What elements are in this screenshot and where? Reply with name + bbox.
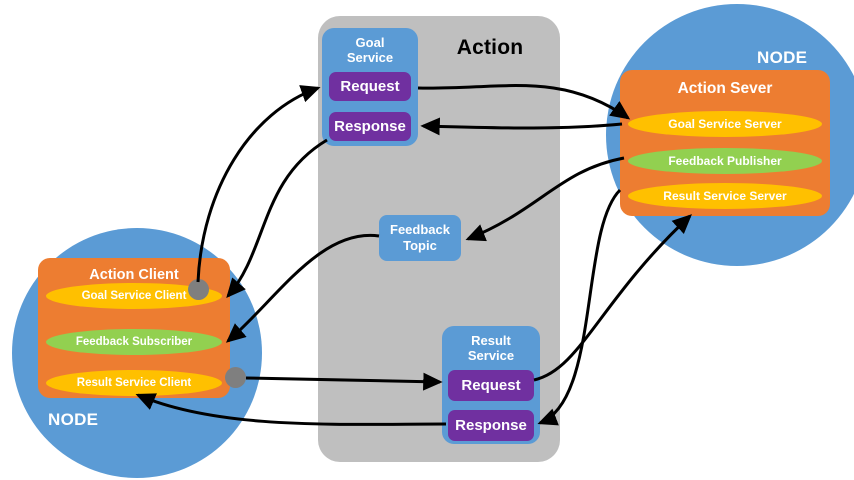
pill-result-service-client: Result Service Client — [46, 370, 222, 396]
arrow-goal-client-to-request — [198, 88, 318, 282]
server-node-label: NODE — [757, 48, 807, 68]
result-service-title: Result Service — [442, 333, 540, 364]
action-server-title: Action Sever — [620, 80, 830, 98]
feedback-topic-title-line1: Feedback — [390, 222, 450, 237]
client-node-label: NODE — [48, 410, 98, 430]
diagram-canvas: Action Action Client Goal Service Client… — [0, 0, 854, 480]
arrow-goal-response-to-client — [228, 140, 327, 296]
result-client-connector-dot — [225, 367, 246, 388]
goal-service-request: Request — [329, 72, 411, 101]
goal-service-response: Response — [329, 112, 411, 141]
result-service-title-line1: Result — [471, 333, 511, 348]
feedback-topic-title: Feedback Topic — [390, 222, 450, 253]
result-service-request: Request — [448, 370, 534, 401]
pill-result-service-server: Result Service Server — [628, 183, 822, 209]
goal-service-title-line2: Service — [347, 50, 393, 65]
feedback-topic-title-line2: Topic — [403, 238, 437, 253]
action-panel-title: Action — [430, 36, 550, 60]
result-service-title-line2: Service — [468, 348, 514, 363]
goal-client-connector-dot — [188, 279, 209, 300]
pill-feedback-subscriber: Feedback Subscriber — [46, 329, 222, 355]
goal-service-title-line1: Goal — [356, 35, 385, 50]
pill-goal-service-server: Goal Service Server — [628, 111, 822, 137]
result-service-response: Response — [448, 410, 534, 441]
pill-feedback-publisher: Feedback Publisher — [628, 148, 822, 174]
feedback-topic-box: Feedback Topic — [379, 215, 461, 261]
goal-service-title: Goal Service — [322, 35, 418, 66]
